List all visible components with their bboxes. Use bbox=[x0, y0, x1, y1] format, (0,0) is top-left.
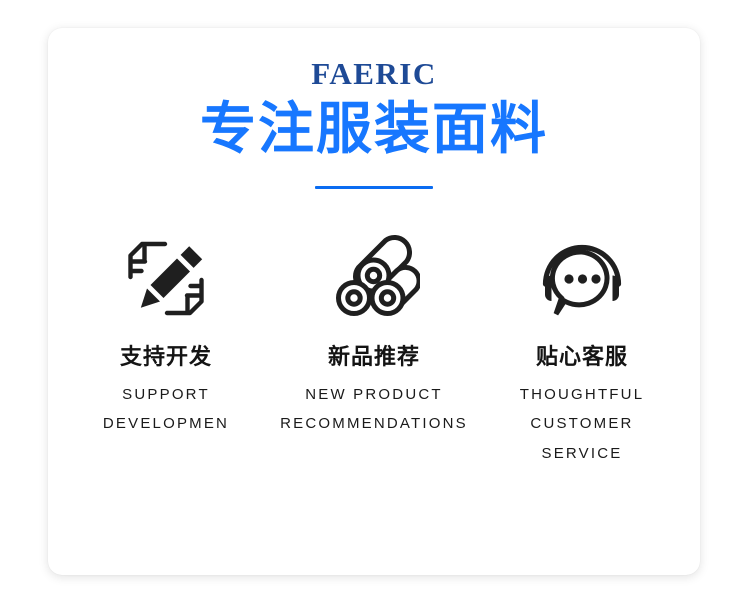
feature-new-product: 新品推荐 NEW PRODUCT RECOMMENDATIONS bbox=[270, 227, 478, 468]
headline: 专注服装面料 bbox=[48, 99, 700, 162]
feature-customer-service: 贴心客服 THOUGHTFUL CUSTOMER SERVICE bbox=[478, 227, 686, 468]
feature-title: 贴心客服 bbox=[536, 345, 628, 371]
divider-wrap bbox=[48, 186, 700, 189]
pencil-ruler-icon bbox=[120, 227, 212, 323]
feature-subtitle-line: SERVICE bbox=[520, 439, 645, 468]
feature-subtitle-line: SUPPORT bbox=[103, 380, 229, 409]
fabric-rolls-icon bbox=[328, 227, 420, 323]
feature-subtitle: NEW PRODUCT RECOMMENDATIONS bbox=[280, 380, 468, 439]
brand-name: FAERIC bbox=[48, 58, 700, 89]
feature-support-development: 支持开发 SUPPORT DEVELOPMEN bbox=[62, 227, 270, 468]
feature-subtitle-line: DEVELOPMEN bbox=[103, 409, 229, 438]
feature-subtitle-line: RECOMMENDATIONS bbox=[280, 409, 468, 438]
headset-chat-icon bbox=[534, 227, 630, 323]
feature-subtitle-line: NEW PRODUCT bbox=[280, 380, 468, 409]
feature-subtitle-line: THOUGHTFUL bbox=[520, 380, 645, 409]
feature-subtitle: THOUGHTFUL CUSTOMER SERVICE bbox=[520, 380, 645, 468]
banner-header: FAERIC 专注服装面料 bbox=[48, 28, 700, 189]
feature-subtitle: SUPPORT DEVELOPMEN bbox=[103, 380, 229, 439]
feature-title: 支持开发 bbox=[120, 345, 212, 371]
feature-subtitle-line: CUSTOMER bbox=[520, 409, 645, 438]
promo-banner-card: FAERIC 专注服装面料 bbox=[48, 28, 700, 575]
feature-title: 新品推荐 bbox=[328, 345, 420, 371]
feature-row: 支持开发 SUPPORT DEVELOPMEN bbox=[48, 227, 700, 468]
header-divider bbox=[315, 186, 433, 189]
